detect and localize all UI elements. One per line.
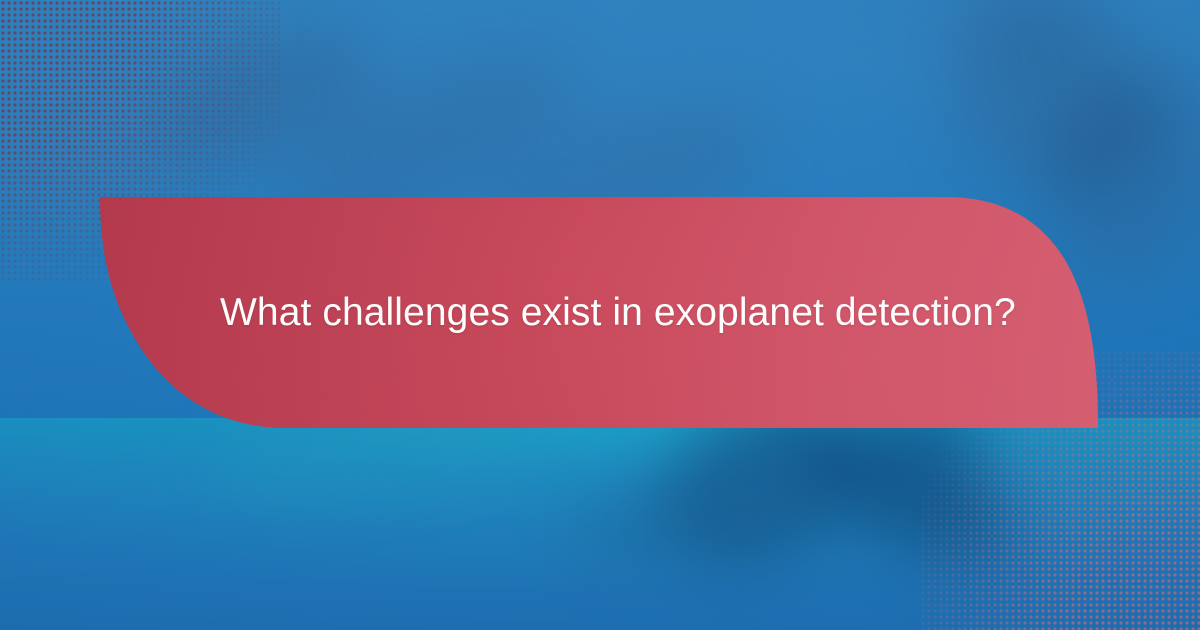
social-card: What challenges exist in exoplanet detec…	[0, 0, 1200, 630]
title-banner: What challenges exist in exoplanet detec…	[100, 197, 1100, 428]
background-lower-teal	[0, 418, 1200, 630]
page-title: What challenges exist in exoplanet detec…	[220, 197, 1016, 428]
